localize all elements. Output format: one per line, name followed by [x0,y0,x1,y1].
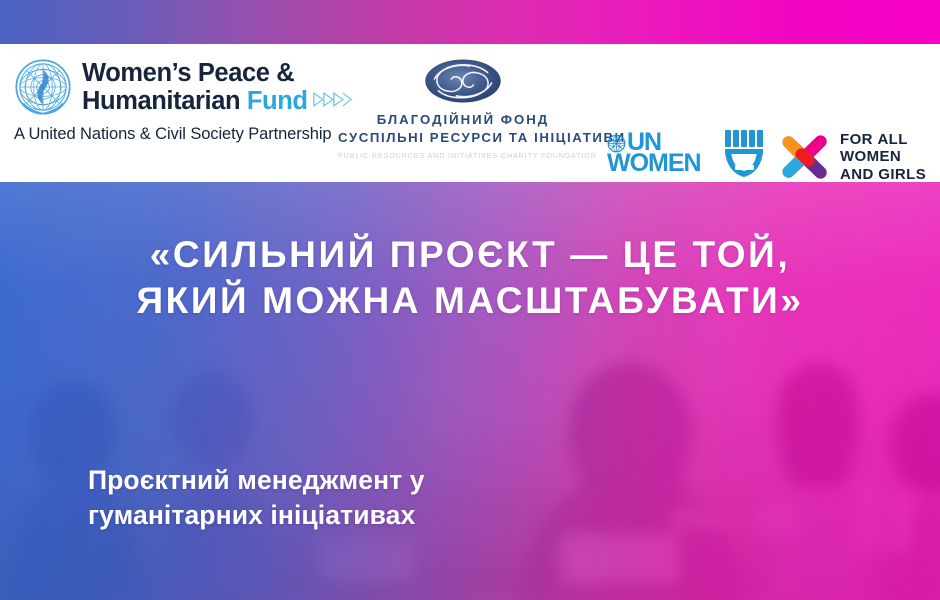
logo-for-all-women-and-girls: FOR ALL WOMEN AND GIRLS [779,128,934,186]
logo-un-women: UN WOMEN [607,128,767,184]
hero-subtitle-line2: гуманітарних ініціативах [88,498,648,533]
hero-subtitle: Проєктний менеджмент у гуманітарних ініц… [88,463,648,533]
logo-wphf: Women’s Peace & Humanitarian Fund A Unit… [14,58,330,166]
wphf-tagline: A United Nations & Civil Society Partner… [14,125,330,144]
wphf-wordmark: Women’s Peace & Humanitarian Fund [82,60,352,114]
wphf-line2: Humanitarian Fund [82,87,352,115]
pricf-line1: БЛАГОДІЙНИЙ ФОНД [338,112,588,127]
fawg-line1-strong: ALL [877,131,907,148]
top-gradient-bar [0,0,940,44]
wphf-line1: Women’s Peace & [82,59,294,87]
fawg-wordmark: FOR ALL WOMEN AND GIRLS [840,131,926,182]
pricf-line2: СУСПІЛЬНІ РЕСУРСИ ТА ІНІЦІАТИВИ [338,130,588,145]
fawg-line3: AND GIRLS [840,166,926,183]
un-women-woven-mark-icon [723,130,767,178]
hero-headline-line2: ЯКИЙ МОЖНА МАСШТАБУВАТИ» [0,278,940,324]
hero-headline-line1: «СИЛЬНИЙ ПРОЄКТ — ЦЕ ТОЙ, [150,234,791,275]
wphf-line2-accent: Fund [247,87,308,115]
fawg-line2: WOMEN [840,148,901,165]
pricf-line3: PUBLIC RESOURCES AND INITIATIVES CHARITY… [338,151,588,160]
hero-subtitle-line1: Проєктний менеджмент у [88,465,425,495]
un-women-line2: WOMEN [607,151,701,176]
fawg-line1: FOR ALL [840,131,908,148]
spiral-swirl-icon [424,58,502,104]
logo-pricf: БЛАГОДІЙНИЙ ФОНД СУСПІЛЬНІ РЕСУРСИ ТА ІН… [338,58,588,160]
wphf-line2-main: Humanitarian [82,87,247,115]
crossed-bars-icon [779,131,831,183]
un-emblem-icon [14,58,72,116]
fawg-line1-prefix: FOR [840,131,877,148]
hero-headline: «СИЛЬНИЙ ПРОЄКТ — ЦЕ ТОЙ, ЯКИЙ МОЖНА МАС… [0,232,940,324]
partner-logo-band: Women’s Peace & Humanitarian Fund A Unit… [0,44,940,182]
